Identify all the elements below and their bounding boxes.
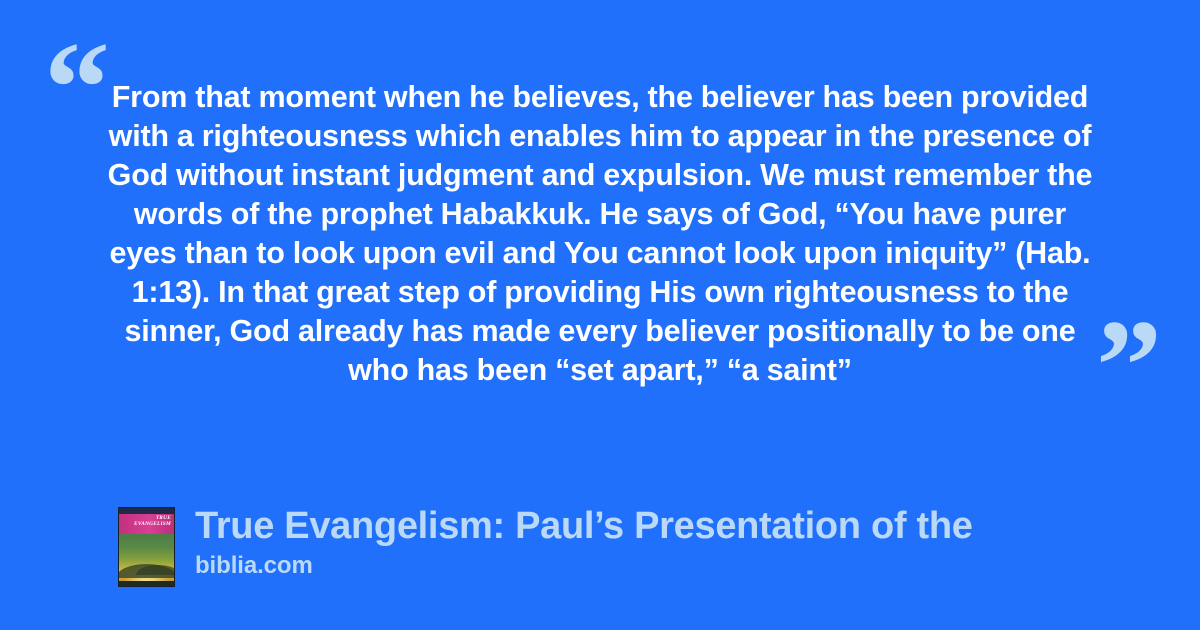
book-title[interactable]: True Evangelism: Paul’s Presentation of … xyxy=(195,503,1158,549)
cover-title-text: TRUE EVANGELISM xyxy=(127,515,171,527)
quote-card: “ From that moment when he believes, the… xyxy=(0,0,1200,630)
source-label[interactable]: biblia.com xyxy=(195,552,1158,580)
quote-block: “ From that moment when he believes, the… xyxy=(0,0,1200,470)
quote-text: From that moment when he believes, the b… xyxy=(100,78,1100,390)
footer-text-group: True Evangelism: Paul’s Presentation of … xyxy=(195,503,1158,580)
cover-landscape-art xyxy=(119,534,174,587)
book-cover-thumbnail[interactable]: TRUE EVANGELISM Lewis Sperry Chafer xyxy=(118,507,175,587)
closing-quote-icon: ” xyxy=(1096,300,1162,432)
cover-bottom-band xyxy=(119,581,174,586)
cover-title-line-2: EVANGELISM xyxy=(127,521,171,527)
footer: TRUE EVANGELISM Lewis Sperry Chafer True… xyxy=(118,503,1158,599)
